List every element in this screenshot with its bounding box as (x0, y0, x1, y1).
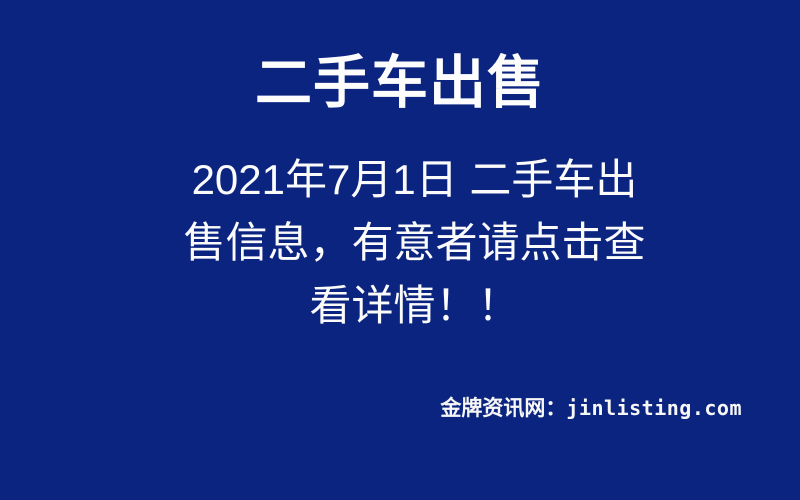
page-title: 二手车出售 (0, 54, 800, 114)
announcement-body: 2021年7月1日 二手车出 售信息，有意者请点击查 看详情！！ (142, 148, 687, 337)
body-line-1: 2021年7月1日 二手车出 (142, 148, 687, 211)
body-line-2: 售信息，有意者请点击查 (142, 211, 687, 274)
body-line-3: 看详情！！ (142, 274, 687, 337)
poster-canvas: 二手车出售 2021年7月1日 二手车出 售信息，有意者请点击查 看详情！！ 金… (0, 0, 800, 500)
watermark: 金牌资讯网：jinlisting.com (0, 392, 800, 422)
watermark-url: jinlisting.com (566, 396, 742, 420)
watermark-label: 金牌资讯网： (440, 397, 566, 420)
